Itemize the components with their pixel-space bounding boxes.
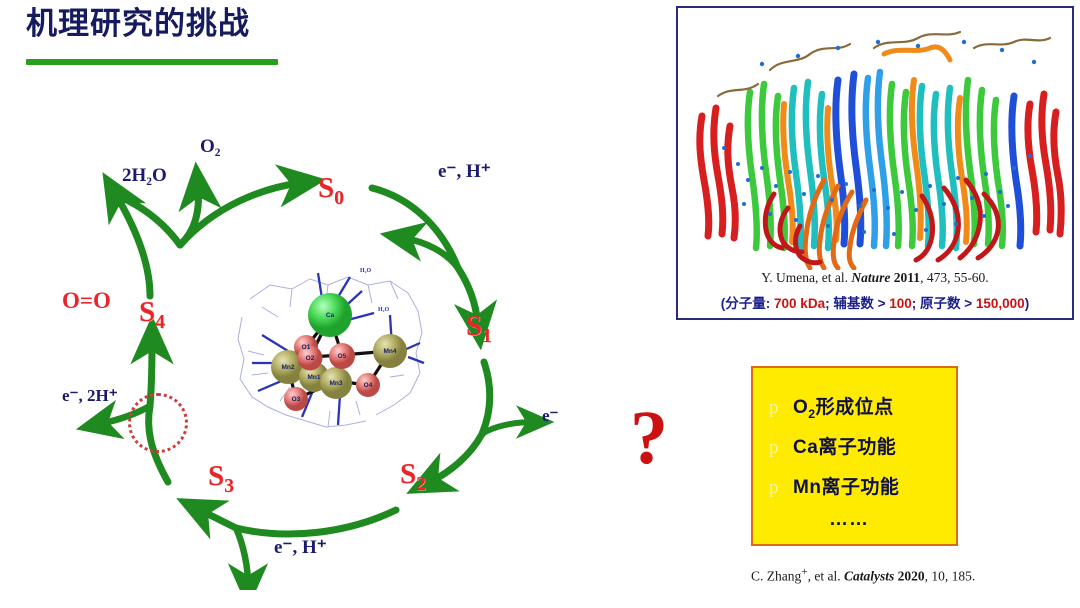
svg-text:Mn2: Mn2 — [282, 364, 295, 371]
psii-subcaption: (分子量: 700 kDa; 辅基数 > 100; 原子数 > 150,000) — [678, 292, 1072, 312]
psii-citation: Y. Umena, et al. Nature 2011, 473, 55-60… — [678, 270, 1072, 286]
label-release-s0-s1: e⁻, H⁺ — [438, 160, 491, 183]
question-item-mn-function: p Mn离子功能 — [769, 472, 899, 499]
svg-text:H₂O: H₂O — [360, 268, 371, 274]
svg-text:O5: O5 — [338, 353, 347, 360]
state-label-s2: S2 — [400, 458, 426, 496]
question-item-label: Ca离子功能 — [793, 432, 896, 459]
mn4cao5-cluster-image: Ca Mn2 Mn1 Mn3 Mn4 O1 O2 O3 O4 O5 H₂O H₂… — [232, 255, 428, 441]
state-label-s4: S4 — [139, 296, 165, 334]
label-water-input: 2H₂O — [122, 165, 167, 187]
page-title: 机理研究的挑战 — [26, 6, 446, 42]
question-item-label: Mn离子功能 — [793, 472, 899, 499]
question-item-ca-function: p Ca离子功能 — [769, 432, 896, 459]
question-mark: ? — [630, 400, 668, 476]
title-underline-rule — [26, 59, 278, 65]
question-item-label: O2形成位点 — [793, 392, 894, 421]
svg-text:H₂O: H₂O — [378, 307, 389, 313]
question-item-ellipsis: …… — [829, 509, 869, 531]
s4-dotted-circle — [128, 393, 188, 453]
svg-text:Mn3: Mn3 — [330, 380, 343, 387]
title-block: 机理研究的挑战 — [26, 6, 446, 42]
svg-text:O3: O3 — [292, 396, 301, 403]
svg-text:Mn1: Mn1 — [308, 374, 321, 381]
psii-structure-panel: Y. Umena, et al. Nature 2011, 473, 55-60… — [676, 6, 1074, 320]
svg-text:O4: O4 — [364, 382, 373, 389]
label-release-s3-s4: e⁻, 2H⁺ — [62, 386, 118, 406]
label-release-s1-s2: e⁻ — [542, 406, 559, 426]
open-questions-box: p O2形成位点 p Ca离子功能 p Mn离子功能 …… — [751, 366, 958, 546]
svg-text:O1: O1 — [302, 344, 311, 351]
cluster-svg: Ca Mn2 Mn1 Mn3 Mn4 O1 O2 O3 O4 O5 H₂O H₂… — [232, 255, 428, 441]
svg-text:Ca: Ca — [326, 312, 335, 319]
psii-structure-image — [678, 8, 1072, 270]
label-oo-product: O=O — [62, 288, 111, 314]
svg-text:O2: O2 — [306, 355, 315, 362]
state-label-s1: S1 — [466, 310, 492, 348]
svg-text:Mn4: Mn4 — [384, 348, 397, 355]
question-item-o2-site: p O2形成位点 — [769, 392, 894, 421]
state-label-s3: S3 — [208, 460, 234, 498]
state-label-s0: S0 — [318, 172, 344, 210]
bullet-icon: p — [769, 477, 793, 499]
psii-ribbon-svg — [678, 8, 1072, 270]
label-release-s2-s3: e⁻, H⁺ — [274, 536, 327, 559]
bottom-citation: C. Zhang+, et al. Catalysts 2020, 10, 18… — [751, 566, 1071, 585]
bullet-icon: p — [769, 397, 793, 419]
bullet-icon: p — [769, 437, 793, 459]
slide-root: 机理研究的挑战 — [0, 0, 1080, 608]
label-oxygen-output: O₂ — [200, 136, 220, 158]
